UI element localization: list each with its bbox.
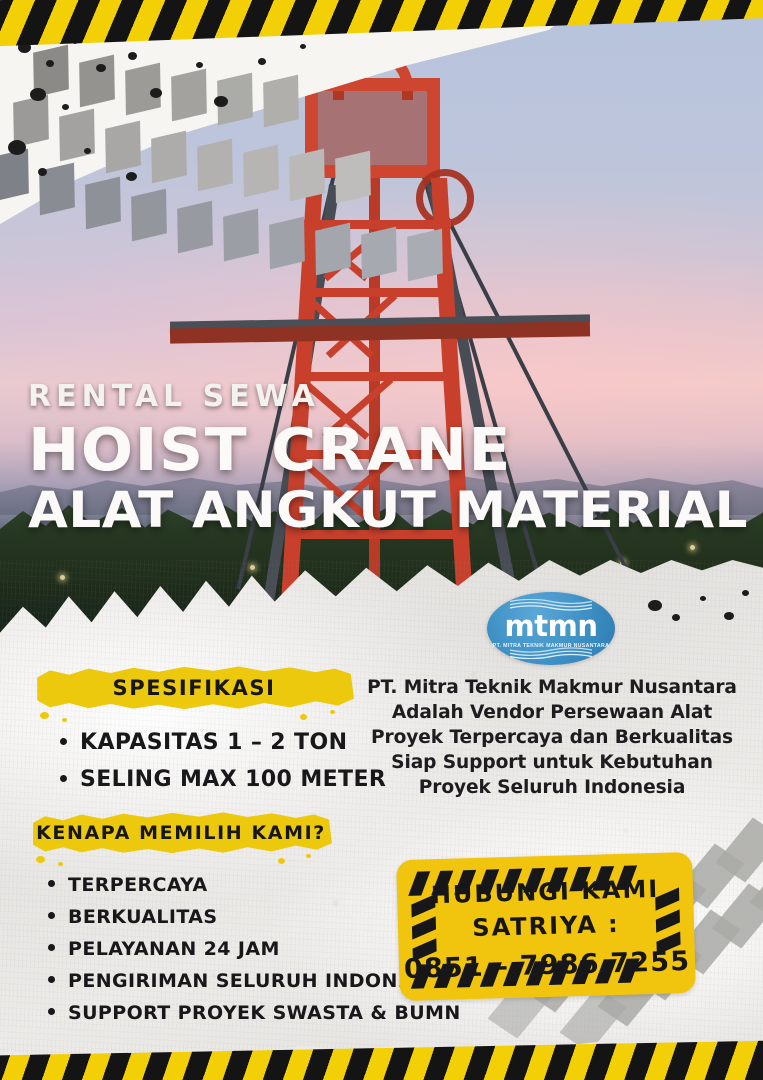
description-line: Siap Support untuk Kebutuhan: [352, 751, 752, 776]
spesifikasi-banner-label: SPESIFIKASI: [112, 676, 275, 700]
cross-brace: [301, 288, 453, 297]
spesifikasi-list: KAPASITAS 1 – 2 TON SELING MAX 100 METER: [60, 730, 386, 804]
description-line: Adalah Vendor Persewaan Alat: [352, 701, 752, 726]
logo-wave-bottom-icon: [510, 646, 592, 659]
contact-person: SATRIYA :: [398, 908, 695, 944]
description-line: Proyek Seluruh Indonesia: [352, 776, 752, 801]
list-item: KAPASITAS 1 – 2 TON: [60, 730, 386, 755]
poster-flyer: RENTAL SEWA HOIST CRANE ALAT ANGKUT MATE…: [0, 0, 763, 1080]
bullet-dot-icon: [48, 880, 55, 887]
kenapa-memilih-banner: KENAPA MEMILIH KAMI?: [30, 812, 332, 854]
why-item-label: TERPERCAYA: [68, 874, 208, 896]
bullet-dot-icon: [48, 944, 55, 951]
logo-wordmark: mtmn: [505, 612, 598, 641]
description-line: Proyek Terpercaya dan Berkualitas: [352, 726, 752, 751]
kenapa-memilih-banner-label: KENAPA MEMILIH KAMI?: [36, 822, 326, 844]
cross-brace: [299, 372, 457, 381]
company-logo: mtmn PT. MITRA TEKNIK MAKMUR NUSANTARA: [487, 592, 615, 665]
crane-head-housing: [305, 78, 440, 178]
headline-secondary: ALAT ANGKUT MATERIAL: [28, 485, 748, 535]
bullet-dot-icon: [48, 912, 55, 919]
bullet-dot-icon: [48, 976, 55, 983]
contact-phone[interactable]: 0851 – 7986 7255: [399, 946, 696, 985]
list-item: SUPPORT PROYEK SWASTA & BUMN: [48, 1002, 461, 1024]
logo-wave-top-icon: [510, 599, 592, 612]
headline-kicker: RENTAL SEWA: [28, 382, 727, 412]
bullet-dot-icon: [60, 738, 67, 745]
description-line: PT. Mitra Teknik Makmur Nusantara: [352, 676, 752, 701]
why-item-label: BERKUALITAS: [68, 906, 217, 928]
spesifikasi-banner: SPESIFIKASI: [34, 666, 354, 710]
spec-item-label: SELING MAX 100 METER: [80, 767, 386, 792]
list-item: SELING MAX 100 METER: [60, 767, 386, 792]
why-item-label: PENGIRIMAN SELURUH INDONESIA: [68, 970, 448, 992]
bullet-dot-icon: [60, 775, 67, 782]
cross-brace: [303, 220, 451, 229]
why-item-label: SUPPORT PROYEK SWASTA & BUMN: [68, 1002, 461, 1024]
contact-text-block: HUBUNGI KAMI SATRIYA : 0851 – 7986 7255: [397, 874, 696, 985]
why-item-label: PELAYANAN 24 JAM: [68, 938, 280, 960]
company-description: PT. Mitra Teknik Makmur Nusantara Adalah…: [352, 676, 752, 801]
headline-block: RENTAL SEWA HOIST CRANE ALAT ANGKUT MATE…: [28, 382, 727, 535]
city-light: [60, 575, 65, 580]
city-light: [690, 545, 695, 550]
headline-primary: HOIST CRANE: [28, 421, 755, 479]
spec-item-label: KAPASITAS 1 – 2 TON: [80, 730, 347, 755]
contact-box[interactable]: HUBUNGI KAMI SATRIYA : 0851 – 7986 7255: [396, 852, 696, 1001]
bullet-dot-icon: [48, 1008, 55, 1015]
